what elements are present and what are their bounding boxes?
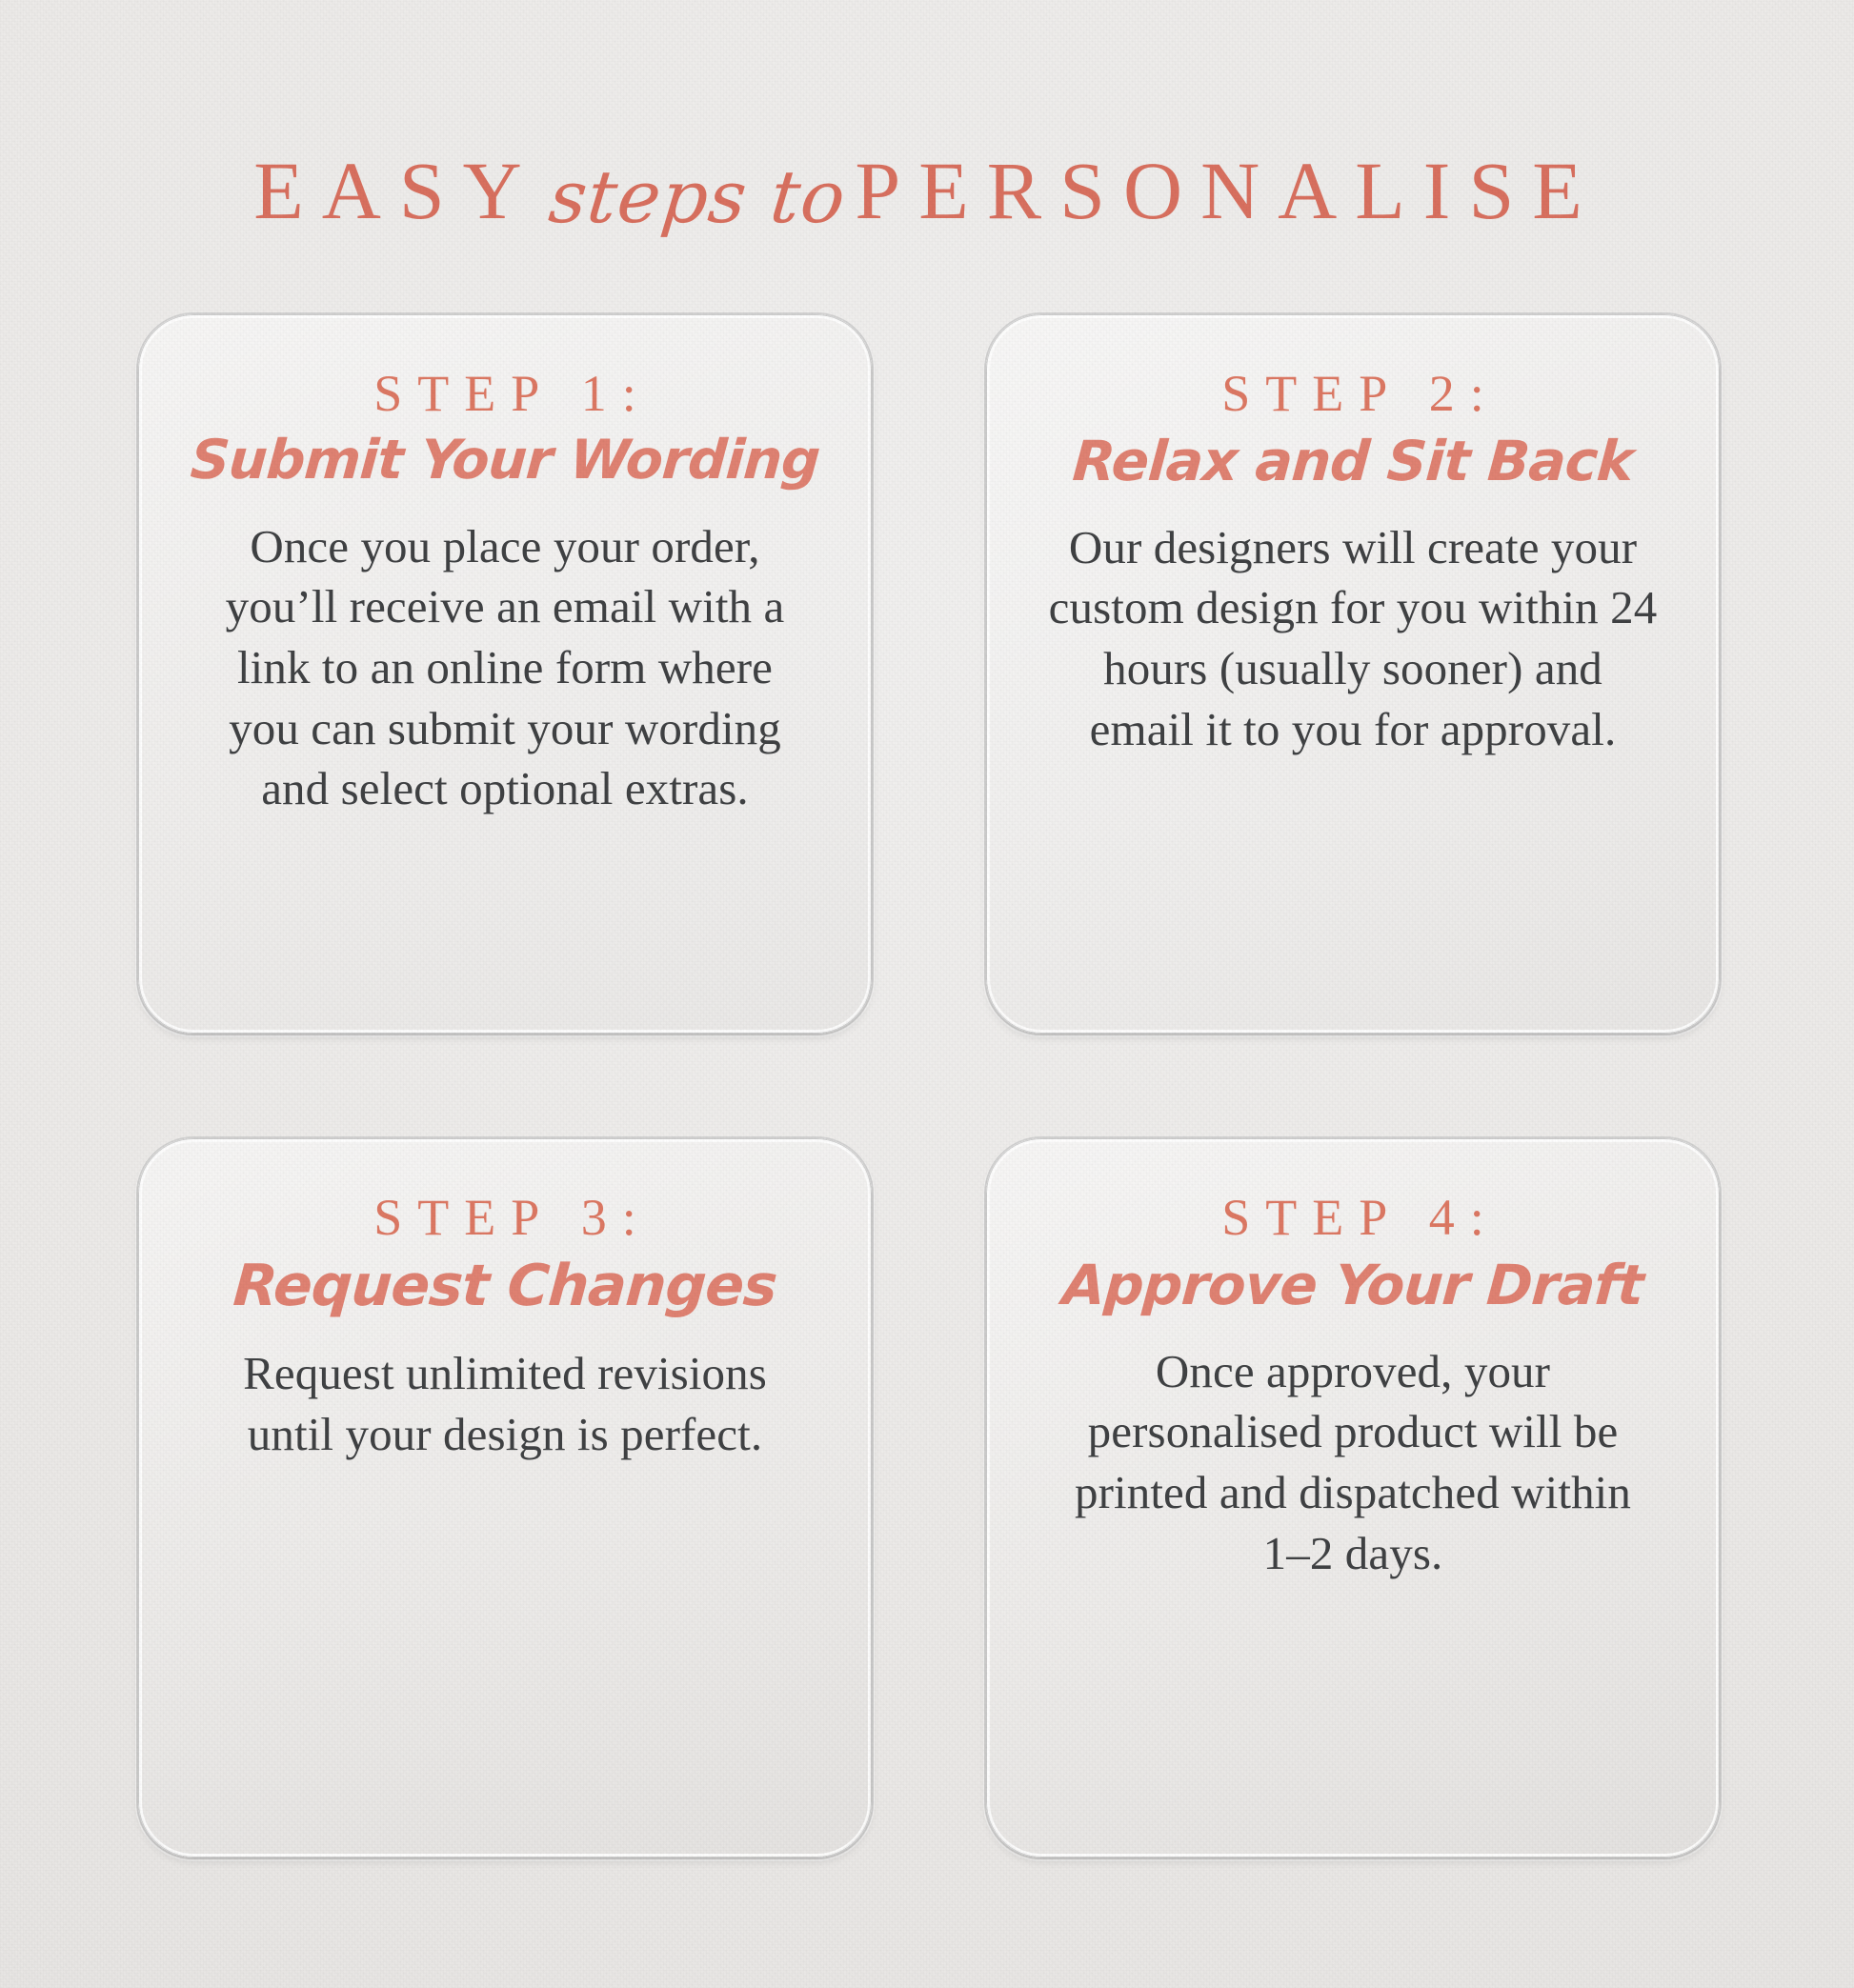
step-4-title: Approve Your Draft — [1028, 1255, 1679, 1316]
page-title-part-easy: EASY — [253, 145, 540, 236]
step-1-body: Once you place your order, you’ll receiv… — [200, 516, 810, 819]
step-4-body: Once approved, your personalised product… — [1058, 1341, 1648, 1584]
step-card-4: STEP 4: Approve Your Draft Once approved… — [986, 1138, 1720, 1857]
step-3-title: Request Changes — [180, 1255, 831, 1318]
page-title: EASYsteps toPERSONALISE — [0, 143, 1854, 238]
step-1-label: STEP 1: — [182, 364, 828, 425]
page-title-part-personalise: PERSONALISE — [855, 145, 1600, 236]
step-2-title: Relax and Sit Back — [1028, 431, 1679, 492]
step-1-title: Submit Your Wording — [180, 431, 830, 492]
step-2-label: STEP 2: — [1030, 364, 1676, 425]
step-3-body: Request unlimited revisions until your d… — [210, 1343, 800, 1464]
step-card-1: STEP 1: Submit Your Wording Once you pla… — [138, 314, 872, 1034]
step-card-2: STEP 2: Relax and Sit Back Our designers… — [986, 314, 1720, 1034]
step-card-3: STEP 3: Request Changes Request unlimite… — [138, 1138, 872, 1857]
step-4-label: STEP 4: — [1030, 1188, 1676, 1249]
steps-grid: STEP 1: Submit Your Wording Once you pla… — [138, 314, 1720, 1857]
page-title-script-steps-to: steps to — [535, 154, 859, 239]
step-3-label: STEP 3: — [182, 1188, 828, 1249]
step-2-body: Our designers will create your custom de… — [1048, 517, 1658, 760]
